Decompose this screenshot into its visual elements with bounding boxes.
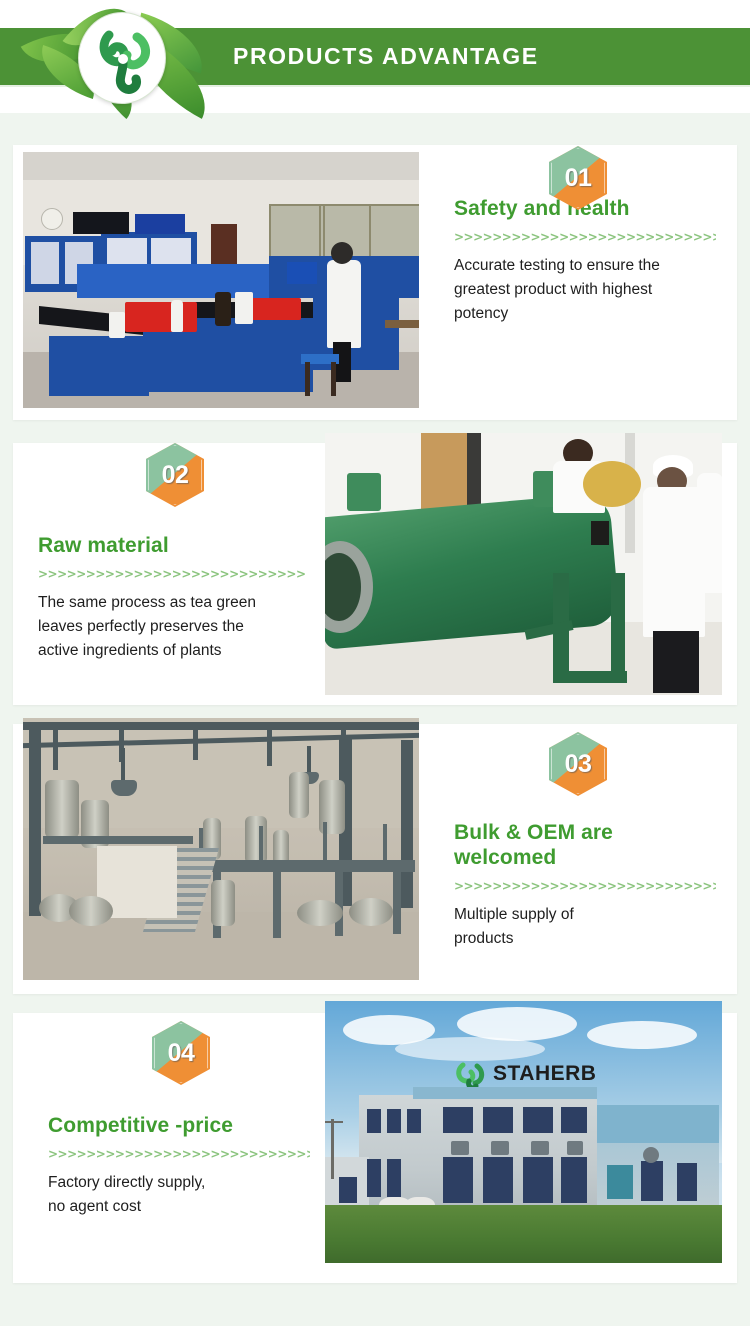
advantage-row-1: 01 Safety and health >>>>>>>>>>>>>>>>>>>… xyxy=(0,140,750,425)
advantage-row-3: 03 Bulk & OEM are welcomed >>>>>>>>>>>>>… xyxy=(0,710,750,995)
card-body-2: The same process as tea green leaves per… xyxy=(38,591,306,663)
step-badge-1: 01 xyxy=(549,146,607,210)
card-text-1: 01 Safety and health >>>>>>>>>>>>>>>>>>>… xyxy=(454,196,716,326)
building-brand-text: STAHERB xyxy=(493,1062,596,1086)
card-body-1: Accurate testing to ensure the greatest … xyxy=(454,254,716,326)
step-badge-4: 04 xyxy=(152,1021,210,1085)
card-title-2: Raw material xyxy=(38,533,306,558)
chevron-divider-2: >>>>>>>>>>>>>>>>>>>>>>>>>>>>>> xyxy=(38,567,306,581)
card-title-4: Competitive -price xyxy=(48,1113,310,1138)
logo-emblem-circle xyxy=(78,12,166,104)
laboratory-quality-testing-photo xyxy=(23,152,419,408)
staherb-factory-building-photo: STAHERB NATURAL INGREDIENTS xyxy=(325,1001,722,1263)
card-body-3: Multiple supply of products xyxy=(454,903,716,951)
chevron-divider-3: >>>>>>>>>>>>>>>>>>>>>>>>>>>>>> xyxy=(454,879,716,893)
card-title-3: Bulk & OEM are welcomed xyxy=(454,820,716,870)
card-body-4: Factory directly supply, no agent cost xyxy=(48,1171,310,1219)
logo-swirl-icon xyxy=(79,13,166,104)
extraction-workshop-factory-photo xyxy=(23,718,419,980)
step-badge-2: 02 xyxy=(146,443,204,507)
chevron-divider-4: >>>>>>>>>>>>>>>>>>>>>>>>>>>>>> xyxy=(48,1147,310,1161)
tea-leaf-roasting-machine-photo xyxy=(325,433,722,695)
advantage-row-2: 02 Raw material >>>>>>>>>>>>>>>>>>>>>>>>… xyxy=(0,425,750,710)
products-advantage-page: PRODUCTS ADVANTAGE xyxy=(0,0,750,1326)
step-badge-3: 03 xyxy=(549,732,607,796)
card-text-4: 04 Competitive -price >>>>>>>>>>>>>>>>>>… xyxy=(48,1113,310,1219)
advantage-row-4: STAHERB NATURAL INGREDIENTS xyxy=(0,995,750,1285)
chevron-divider-1: >>>>>>>>>>>>>>>>>>>>>>>>>>>>>> xyxy=(454,230,716,244)
page-title: PRODUCTS ADVANTAGE xyxy=(233,43,539,70)
step-number-2: 02 xyxy=(146,443,204,507)
page-header: PRODUCTS ADVANTAGE xyxy=(0,0,750,113)
staherb-leaf-logo xyxy=(22,6,212,111)
step-number-1: 01 xyxy=(549,146,607,210)
step-number-4: 04 xyxy=(152,1021,210,1085)
card-text-2: 02 Raw material >>>>>>>>>>>>>>>>>>>>>>>>… xyxy=(38,533,306,663)
card-text-3: 03 Bulk & OEM are welcomed >>>>>>>>>>>>>… xyxy=(454,820,716,951)
step-number-3: 03 xyxy=(549,732,607,796)
